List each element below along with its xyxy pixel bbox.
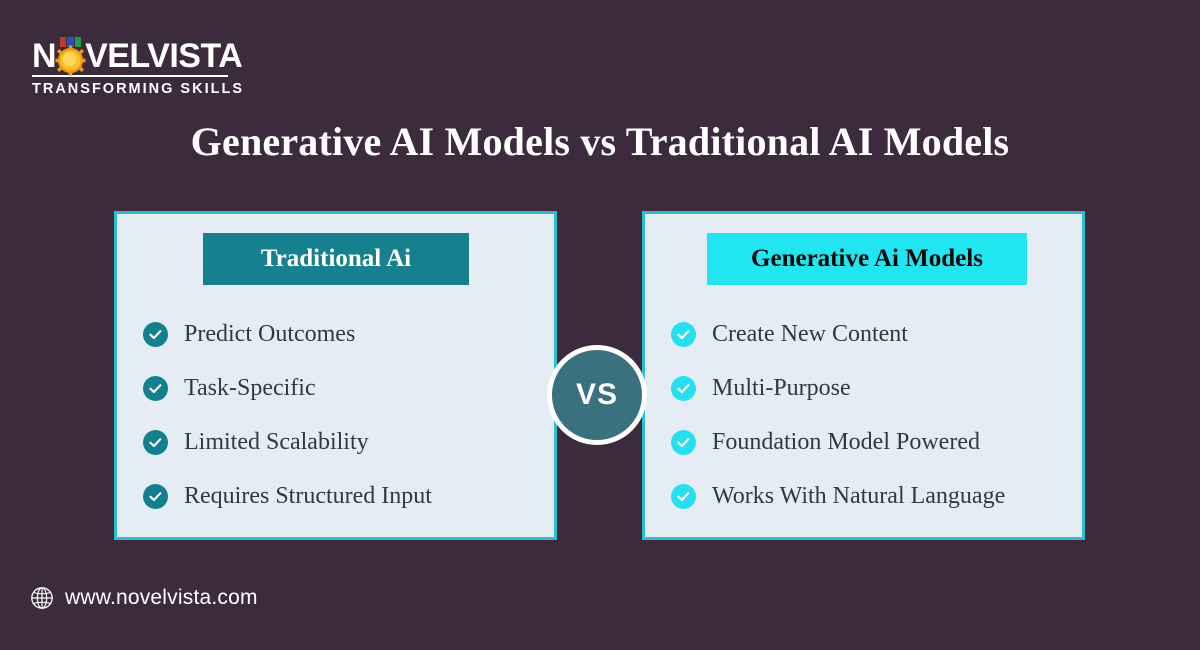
- check-circle-icon: [143, 376, 168, 401]
- gear-sun-icon: [55, 41, 86, 72]
- list-item: Works With Natural Language: [645, 469, 1082, 523]
- check-circle-icon: [143, 322, 168, 347]
- logo-word-suffix: VELVISTA: [85, 39, 242, 73]
- globe-icon: [30, 586, 54, 610]
- list-item-label: Works With Natural Language: [712, 484, 1005, 508]
- vs-label: VS: [576, 378, 618, 412]
- check-circle-icon: [671, 376, 696, 401]
- check-circle-icon: [671, 484, 696, 509]
- comparison-card-generative: Generative Ai Models Create New Content …: [642, 211, 1085, 540]
- check-circle-icon: [671, 430, 696, 455]
- logo-tagline: TRANSFORMING SKILLS: [32, 81, 232, 97]
- list-item-label: Create New Content: [712, 322, 908, 346]
- card-badge-generative: Generative Ai Models: [707, 233, 1027, 285]
- logo-word-prefix: N: [32, 39, 56, 73]
- check-circle-icon: [143, 430, 168, 455]
- list-item: Predict Outcomes: [117, 307, 554, 361]
- brand-logo[interactable]: N: [32, 38, 232, 97]
- logo-wordmark: N: [32, 38, 232, 74]
- list-item-label: Multi-Purpose: [712, 376, 851, 400]
- list-item: Multi-Purpose: [645, 361, 1082, 415]
- page-title: Generative AI Models vs Traditional AI M…: [0, 118, 1200, 165]
- vs-badge: VS: [547, 345, 647, 445]
- list-item-label: Requires Structured Input: [184, 484, 432, 508]
- list-item: Limited Scalability: [117, 415, 554, 469]
- list-item-label: Limited Scalability: [184, 430, 369, 454]
- card-badge-traditional: Traditional Ai: [203, 233, 469, 285]
- footer-url-label: www.novelvista.com: [65, 586, 258, 610]
- check-circle-icon: [143, 484, 168, 509]
- list-item: Requires Structured Input: [117, 469, 554, 523]
- feature-list-generative: Create New Content Multi-Purpose Foundat…: [645, 307, 1082, 523]
- check-circle-icon: [671, 322, 696, 347]
- list-item: Task-Specific: [117, 361, 554, 415]
- list-item-label: Task-Specific: [184, 376, 316, 400]
- list-item-label: Predict Outcomes: [184, 322, 355, 346]
- list-item-label: Foundation Model Powered: [712, 430, 980, 454]
- feature-list-traditional: Predict Outcomes Task-Specific Limited S…: [117, 307, 554, 523]
- list-item: Foundation Model Powered: [645, 415, 1082, 469]
- list-item: Create New Content: [645, 307, 1082, 361]
- footer: www.novelvista.com: [30, 586, 258, 610]
- comparison-card-traditional: Traditional Ai Predict Outcomes Task-Spe…: [114, 211, 557, 540]
